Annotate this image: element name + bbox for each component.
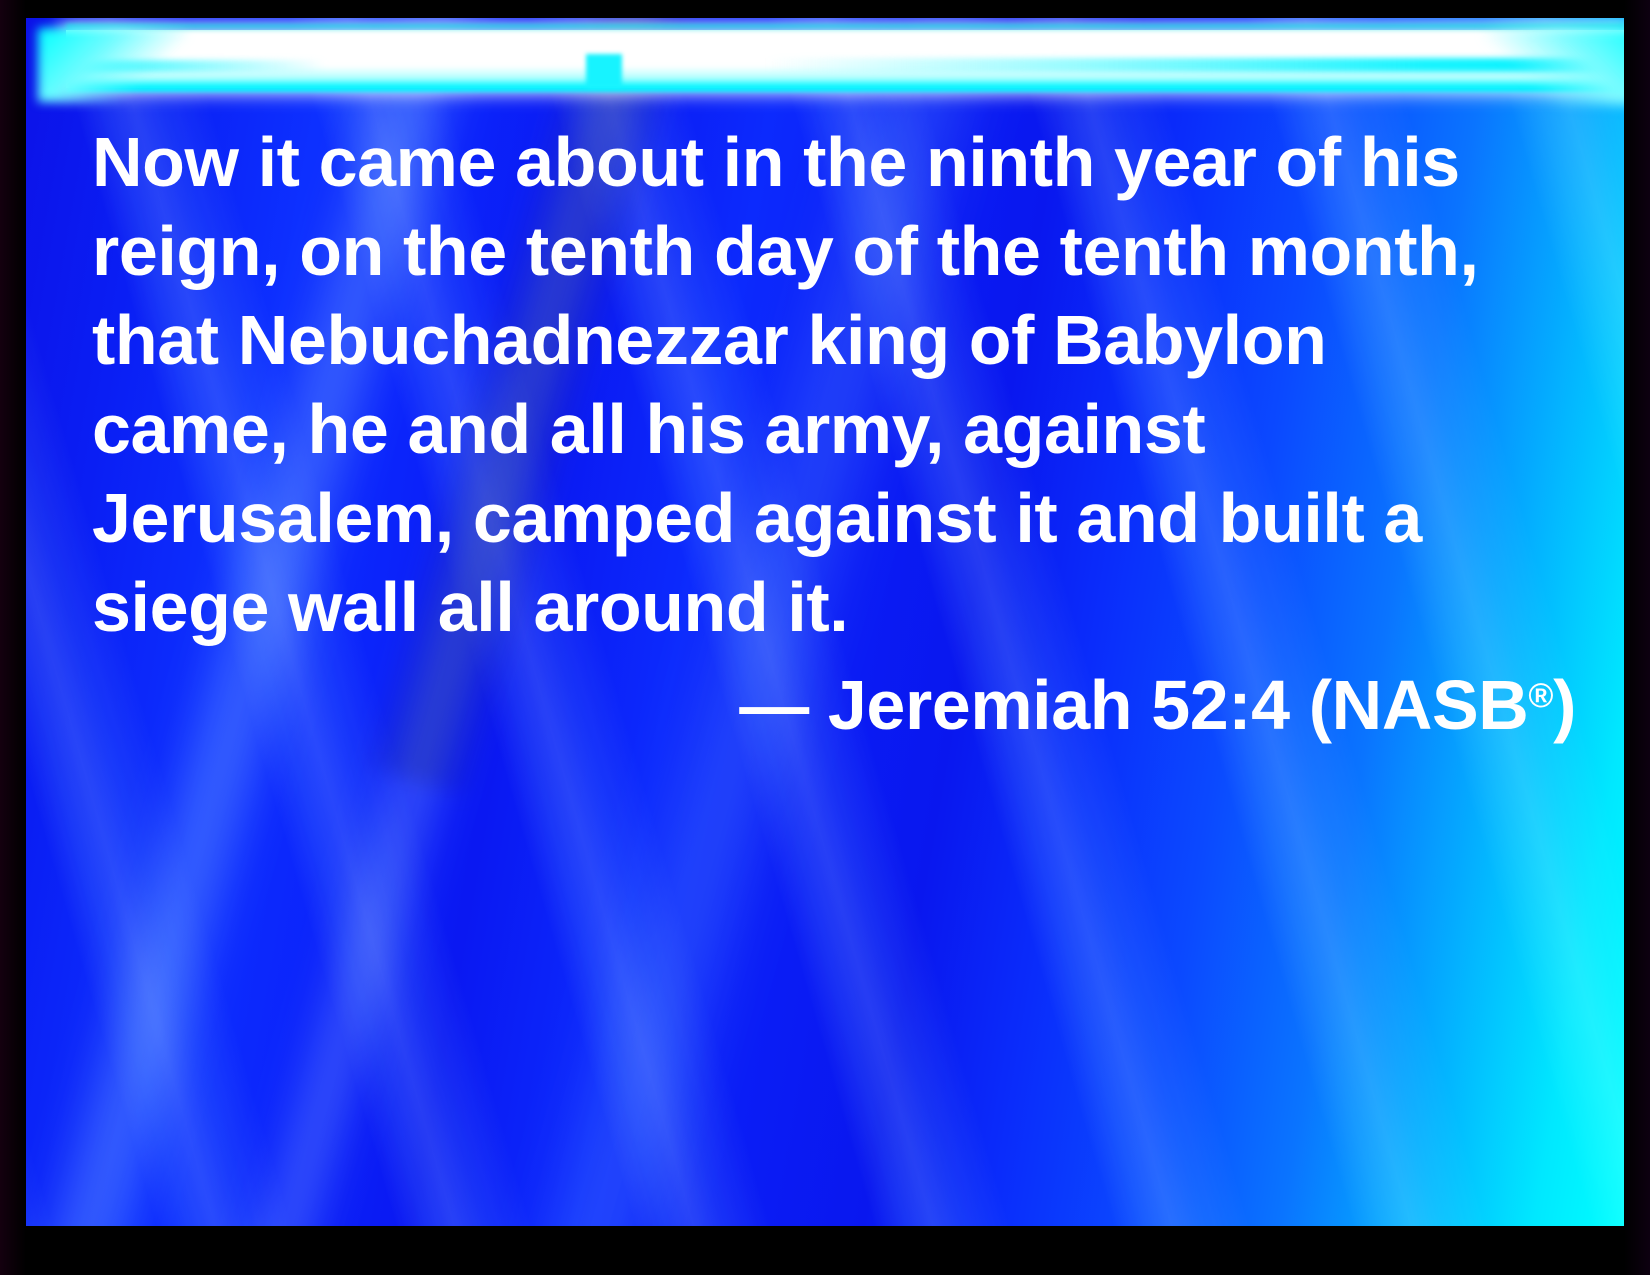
verse-line: siege wall all around it.: [92, 563, 1592, 652]
attribution-book: Jeremiah: [828, 666, 1132, 744]
header-cyan-notch: [586, 54, 622, 88]
header-corner-glow-left: [38, 28, 188, 102]
verse-attribution: — Jeremiah 52:4 (NASB®): [92, 652, 1592, 750]
verse-slide: Now it came about in the ninth year of h…: [0, 0, 1650, 1275]
slide-artwork: Now it came about in the ninth year of h…: [26, 18, 1624, 1226]
attribution-dash: —: [739, 666, 809, 744]
registered-trademark-icon: ®: [1528, 677, 1553, 715]
attribution-reference: 52:4: [1151, 666, 1290, 744]
header-band: [66, 30, 1624, 88]
verse-line: reign, on the tenth day of the tenth mon…: [92, 207, 1592, 296]
verse-line: Now it came about in the ninth year of h…: [92, 118, 1592, 207]
attribution-translation-close: ): [1553, 666, 1576, 744]
header-cyan-topedge: [66, 24, 1624, 32]
verse-line: Jerusalem, camped against it and built a: [92, 474, 1592, 563]
header-corner-glow-right: [1484, 28, 1624, 104]
attribution-translation: (NASB: [1309, 666, 1529, 744]
verse-text-block: Now it came about in the ninth year of h…: [92, 118, 1592, 652]
verse-line: came, he and all his army, against: [92, 385, 1592, 474]
verse-line: that Nebuchadnezzar king of Babylon: [92, 296, 1592, 385]
